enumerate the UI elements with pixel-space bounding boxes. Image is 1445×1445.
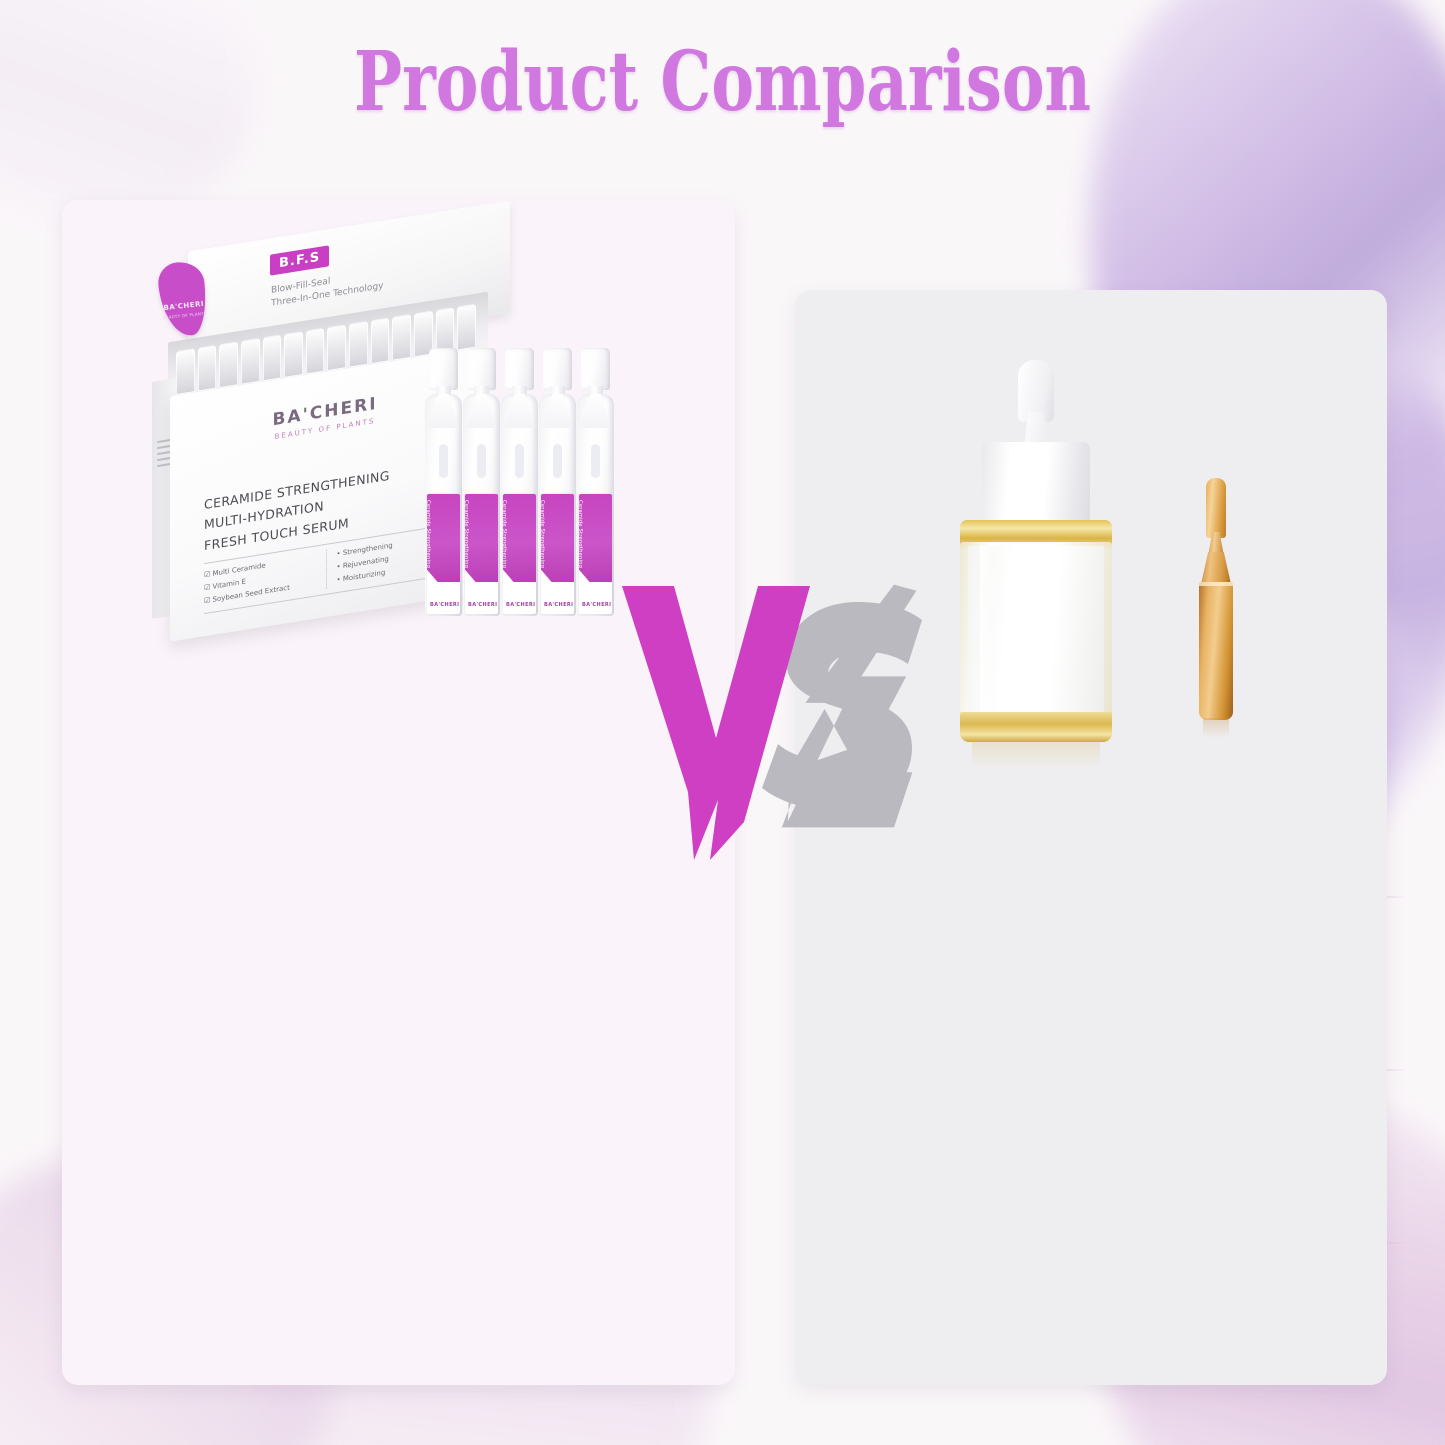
- dropper-bottle-image: [952, 360, 1120, 755]
- ampoule-label: Ceramide Strengthening Multi-Hydration F…: [503, 494, 536, 614]
- amber-ampoule-reflection: [1203, 718, 1229, 738]
- ampoule-label-brand: BA'CHERI: [468, 602, 496, 608]
- ampoule: Ceramide Strengthening Multi-Hydration F…: [463, 348, 500, 616]
- ampoule-label-text: Ceramide Strengthening Multi-Hydration F…: [579, 500, 583, 580]
- logo-tagline-text: BEAUTY OF PLANTS: [162, 311, 208, 321]
- box-ingredient-list: ☑ Multi Ceramide ☑ Vitamin E ☑ Soybean S…: [204, 550, 326, 608]
- ampoule-label-text: Ceramide Strengthening Multi-Hydration F…: [541, 500, 545, 580]
- ampoule: Ceramide Strengthening Multi-Hydration F…: [539, 348, 576, 616]
- bottle-highlight: [980, 546, 996, 712]
- ampoule-label-brand: BA'CHERI: [430, 602, 458, 608]
- ampoule-label-text: Ceramide Strengthening Multi-Hydration F…: [503, 500, 507, 580]
- ampoule-label-text: Ceramide Strengthening Multi-Hydration F…: [465, 500, 469, 580]
- ampoule-label-brand: BA'CHERI: [582, 602, 610, 608]
- ampoule-label-brand: BA'CHERI: [506, 602, 534, 608]
- bottle-gold-bottom-band: [960, 712, 1112, 742]
- ampoule-row-image: Ceramide Strengthening Multi-Hydration F…: [425, 348, 615, 628]
- ampoule: Ceramide Strengthening Multi-Hydration F…: [501, 348, 538, 616]
- ampoule: Ceramide Strengthening Multi-Hydration F…: [577, 348, 614, 616]
- box-side-text-lines: [157, 439, 171, 471]
- bottle-reflection: [972, 742, 1100, 768]
- amber-ampoule-body: [1199, 582, 1233, 720]
- ampoule-label: Ceramide Strengthening Multi-Hydration F…: [427, 494, 460, 614]
- ampoule-label-text: Ceramide Strengthening Multi-Hydration F…: [427, 500, 431, 580]
- dropper-collar: [982, 442, 1090, 524]
- ampoule-label: Ceramide Strengthening Multi-Hydration F…: [465, 494, 498, 614]
- ampoule-label: Ceramide Strengthening Multi-Hydration F…: [579, 494, 612, 614]
- ampoule-label-brand: BA'CHERI: [544, 602, 572, 608]
- ampoule-label: Ceramide Strengthening Multi-Hydration F…: [541, 494, 574, 614]
- infographic-canvas: Product Comparison B.F.S Blow-Fill-Seal …: [0, 0, 1445, 1445]
- amber-glass-ampoule-image: [1193, 478, 1239, 728]
- page-title: Product Comparison: [159, 34, 1286, 130]
- amber-ampoule-neck: [1201, 552, 1231, 584]
- ampoule: Ceramide Strengthening Multi-Hydration F…: [425, 348, 462, 616]
- amber-ampoule-tip: [1206, 478, 1226, 538]
- amber-ampoule-fill-line: [1199, 582, 1233, 586]
